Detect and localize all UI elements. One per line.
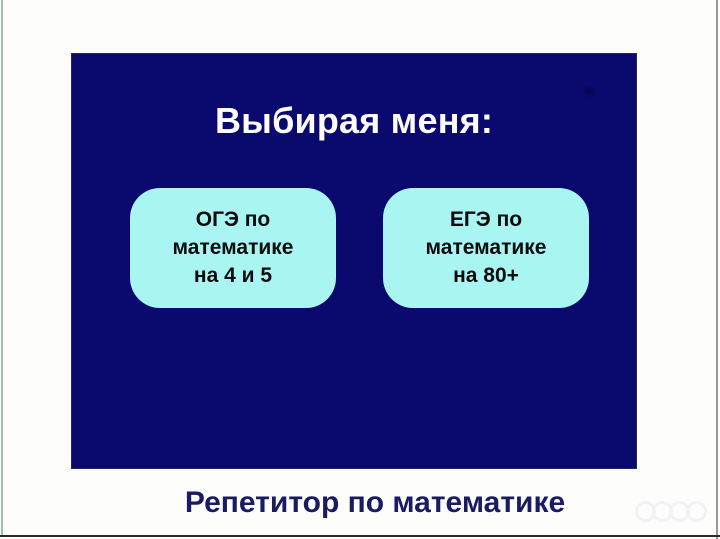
card-ege-line-3: на 80+ xyxy=(453,262,519,290)
frame-bottom-edge xyxy=(0,535,720,537)
card-oge[interactable]: ОГЭ по математике на 4 и 5 xyxy=(130,188,336,308)
page-title: Выбирая меня: xyxy=(71,100,637,142)
panel-smudge-artifact xyxy=(583,85,597,98)
card-oge-line-3: на 4 и 5 xyxy=(194,262,272,290)
card-oge-line-1: ОГЭ по xyxy=(196,206,271,234)
card-ege-line-2: математике xyxy=(426,234,547,262)
frame-left-edge xyxy=(1,0,3,537)
slide-panel: Выбирая меня: ОГЭ по математике на 4 и 5… xyxy=(71,53,637,469)
footer-caption: Репетитор по математике xyxy=(0,486,720,520)
card-oge-line-2: математике xyxy=(173,234,294,262)
slide-screenshot: Выбирая меня: ОГЭ по математике на 4 и 5… xyxy=(0,0,720,539)
cards-row: ОГЭ по математике на 4 и 5 ЕГЭ по матема… xyxy=(71,188,637,308)
card-ege-line-1: ЕГЭ по xyxy=(450,206,522,234)
frame-right-edge xyxy=(716,0,718,539)
card-ege[interactable]: ЕГЭ по математике на 80+ xyxy=(383,188,589,308)
